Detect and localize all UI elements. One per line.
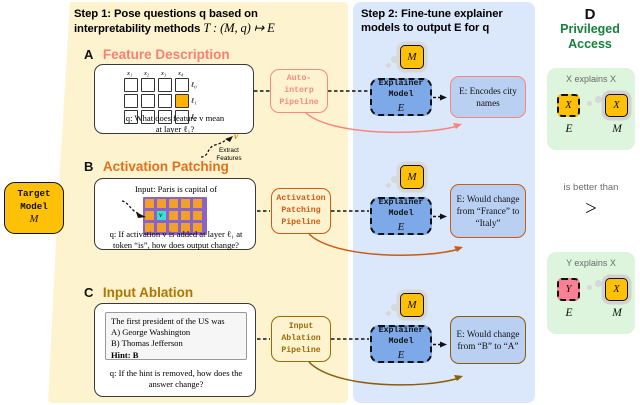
feedback-curve-c [273,359,473,391]
thought-bubble-small-icon [587,101,592,106]
feedback-curve-b [273,231,473,261]
step1-title-line1: Step 1: Pose questions q based on [74,7,342,21]
section-a-question-line1: q: What does feature v mean [99,113,251,124]
privileged-bottom-target-label: M [600,307,634,319]
grid-col-label-x4: x₄ [178,70,183,77]
step2-title-line2: models to output E for q [361,21,537,35]
section-d-title-line2: Access [545,37,635,52]
connector-pipeline-c-to-explainer [331,336,371,342]
section-d-title: Privileged Access [545,22,635,52]
connector-explainer-c-to-output [433,341,449,348]
target-model-chip-c-group: M [400,293,424,317]
section-b-heading: B Activation Patching [84,158,229,176]
explainer-c-line1: Explainer [379,326,424,337]
section-c-question-line2: answer change? [98,379,254,390]
section-b-question: q: If activation v is added at layer ℓ₁ … [98,229,254,250]
privileged-bottom-caption: Y explains X [547,258,635,268]
section-c-question: q: If the hint is removed, how does the … [98,368,254,389]
section-a-question-line2: at layer ℓ₁? [99,124,251,135]
activation-cell [192,198,203,209]
target-model-chip-a: M [400,45,424,69]
connector-card-to-pipeline-a [254,88,272,94]
privileged-top-target-label: M [600,123,634,135]
section-b-letter: B [84,159,93,174]
privileged-top-caption: X explains X [547,74,635,84]
figure-root: Target Model M Step 1: Pose questions q … [0,0,640,405]
explainer-b-line2: Model [389,209,414,220]
privileged-bottom-panel: Y explains X Y X E M [547,252,635,334]
explainer-a-symbol: E [398,101,405,115]
explainer-model-b[interactable]: Explainer Model E [370,197,432,235]
privileged-top-explainer-label: E [553,123,585,135]
connector-card-to-pipeline-b [257,208,273,214]
grid-col-label-x3: x₃ [161,70,166,77]
step1-title-line2: interpretability methods T : (M, q) ↦ E [74,21,342,37]
section-a-question: q: What does feature v mean at layer ℓ₁? [99,113,251,134]
activation-cell [192,210,203,221]
activation-patching-pipeline[interactable]: ActivationPatchingPipeline [271,188,331,234]
grid-col-label-x2: x₂ [144,70,149,77]
section-b-card: Input: Paris is capital of v q: If acti [94,178,256,250]
step1-title-math: T : (M, q) ↦ E [203,21,274,35]
privileged-top-explainer-chip-label: X [565,100,571,111]
thought-bubble-large-icon [391,304,398,311]
input-ablation-pipeline-label: InputAblationPipeline [281,321,320,357]
thought-bubble-small-icon [386,63,391,68]
explainer-model-a[interactable]: Explainer Model E [370,78,432,116]
step2-title: Step 2: Fine-tune explainer models to ou… [361,7,537,35]
output-c-text: E: Would change from “B” to “A” [455,328,521,352]
privileged-top-explainer-chip: X [557,94,580,117]
section-c-heading: C Input Ablation [84,284,193,302]
thought-bubble-large-icon [391,176,398,183]
target-model-line1: Target [17,188,50,200]
thought-bubble-large-icon [595,96,602,103]
comparator-symbol: > [545,196,637,221]
prompt-line-2: A) George Washington [111,327,241,338]
section-a-heading: A Feature Description [84,46,230,64]
prompt-box: The first president of the US was A) Geo… [105,312,247,360]
explainer-a-line2: Model [389,90,414,101]
grid-cell [141,78,155,92]
explainer-c-symbol: E [398,348,405,362]
connector-card-to-pipeline-c [257,336,273,342]
connector-pipeline-b-to-explainer [331,208,371,214]
prompt-hint: Hint: B [111,350,241,361]
thought-bubble-large-icon [595,280,602,287]
section-b-question-line2: token “is”, how does output change? [98,240,254,251]
target-model-chip-a-group: M [400,45,424,69]
step1-title-text2: interpretability methods [74,23,200,35]
activation-cell [180,198,191,209]
target-model-box[interactable]: Target Model M [4,182,64,234]
thought-bubble-small-icon [386,311,391,316]
output-a-text: E: Encodes city names [455,85,521,109]
connector-pipeline-a-to-explainer [328,88,370,94]
connector-explainer-b-to-output [433,213,449,220]
prompt-line-3: B) Thomas Jefferson [111,338,241,349]
input-ablation-pipeline[interactable]: InputAblationPipeline [271,316,331,362]
grid-layer-label-l0: ℓ₀ [191,80,197,89]
section-d-title-line1: Privileged [545,22,635,37]
grid-cell [158,94,172,108]
section-c-title: Input Ablation [103,285,193,300]
section-d-letter: D [545,6,635,23]
prompt-line-1: The first president of the US was [111,316,241,327]
section-c-letter: C [84,285,93,300]
grid-cell-active [175,94,189,108]
section-b-title: Activation Patching [103,159,229,174]
grid-cell [175,78,189,92]
output-box-a: E: Encodes city names [450,76,526,118]
grid-layer-label-l1: ℓ₁ [191,96,197,105]
privileged-top-target-chip: X [605,94,628,117]
target-model-chip-c: M [400,293,424,317]
explainer-b-symbol: E [398,220,405,234]
thought-bubble-small-icon [587,285,592,290]
activation-patching-pipeline-label: ActivationPatchingPipeline [276,193,325,229]
patch-arrow-icon [120,199,162,221]
explainer-model-c[interactable]: Explainer Model E [370,325,432,363]
thought-bubble-large-icon [391,56,398,63]
section-c-card: The first president of the US was A) Geo… [94,303,256,397]
prompt-text: The first president of the US was A) Geo… [106,313,246,364]
privileged-bottom-target-chip-label: X [613,284,619,295]
section-a-letter: A [84,47,93,62]
privileged-bottom-target-chip: X [605,278,628,301]
target-model-symbol: M [30,213,39,227]
output-b-text: E: Would change from “France” to “Italy” [455,193,521,229]
section-c-question-line1: q: If the hint is removed, how does the [98,368,254,379]
step1-title: Step 1: Pose questions q based on interp… [74,7,342,37]
output-box-b: E: Would change from “France” to “Italy” [450,184,526,238]
grid-cell [158,78,172,92]
step2-title-line1: Step 2: Fine-tune explainer [361,7,537,21]
grid-col-label-x1: x₁ [127,70,132,77]
activation-cell [168,210,179,221]
section-b-input-text: Input: Paris is capital of [99,184,253,195]
grid-cell [124,94,138,108]
target-model-line2: Model [20,201,48,213]
section-a-card: x₁ x₂ x₃ x₄ ℓ₀ ℓ₁ ℓ₂ v ExtractFea [94,64,254,134]
section-a-title: Feature Description [103,47,230,62]
target-model-chip-b-symbol: M [407,171,416,183]
connector-explainer-a-to-output [433,94,449,101]
privileged-top-panel: X explains X X X E M [547,68,635,150]
grid-cell [141,94,155,108]
explainer-c-line2: Model [389,337,414,348]
explainer-a-line1: Explainer [379,79,424,90]
privileged-bottom-explainer-label: E [553,307,585,319]
target-model-chip-c-symbol: M [407,299,416,311]
feedback-curve-a [272,110,472,138]
auto-interp-pipeline-label: Auto-interpPipeline [279,73,318,109]
section-b-question-line1: q: If activation v is added at layer ℓ₁ … [98,229,254,240]
activation-cell [168,198,179,209]
auto-interp-pipeline[interactable]: Auto-interpPipeline [270,69,328,113]
target-model-chip-b: M [400,165,424,189]
activation-cell [180,210,191,221]
thought-bubble-small-icon [386,183,391,188]
target-model-chip-a-symbol: M [407,51,416,63]
privileged-bottom-explainer-chip-label: Y [566,284,572,295]
comparator-text: is better than [545,182,637,193]
output-box-c: E: Would change from “B” to “A” [450,316,526,364]
privileged-top-target-chip-label: X [613,100,619,111]
step1-title-text1: Step 1: Pose questions q based on [74,8,258,20]
grid-cell [124,78,138,92]
target-model-chip-b-group: M [400,165,424,189]
privileged-bottom-explainer-chip: Y [557,278,580,301]
explainer-b-line1: Explainer [379,198,424,209]
